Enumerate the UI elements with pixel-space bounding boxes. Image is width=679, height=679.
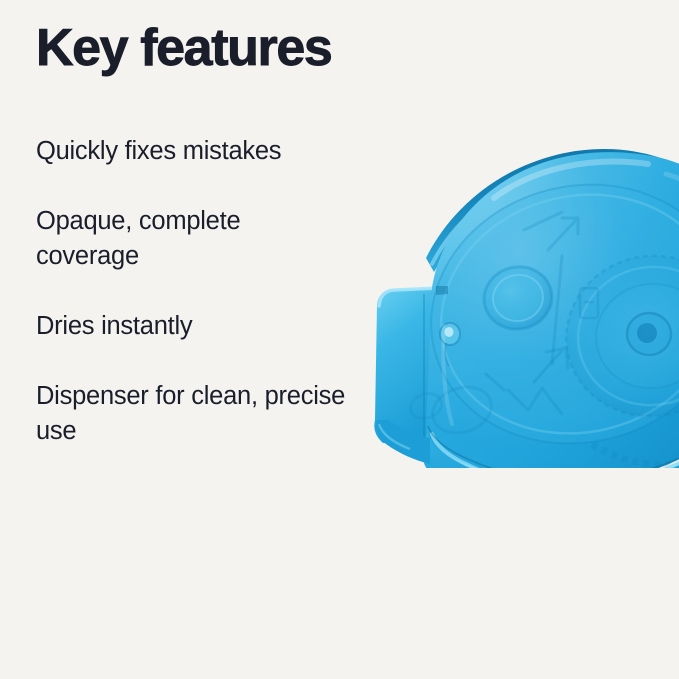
feature-item-dries-instantly: Dries instantly [36,309,346,344]
page-title: Key features [36,22,366,75]
text-column: Key features Quickly fixes mistakes Opaq… [36,22,366,75]
feature-item-quickly-fixes-mistakes: Quickly fixes mistakes [36,134,346,169]
feature-item-dispenser-for-clean-precise-use: Dispenser for clean, precise use [36,379,346,449]
tip-notch [436,286,448,295]
gear-center-pin [637,323,657,343]
product-feature-card: Key features Quickly fixes mistakes Opaq… [0,0,679,679]
feature-item-opaque-complete-coverage: Opaque, complete coverage [36,204,346,274]
feature-list: Quickly fixes mistakes Opaque, complete … [36,134,346,449]
correction-tape-illustration [366,138,679,468]
product-image-correction-tape [366,138,679,468]
